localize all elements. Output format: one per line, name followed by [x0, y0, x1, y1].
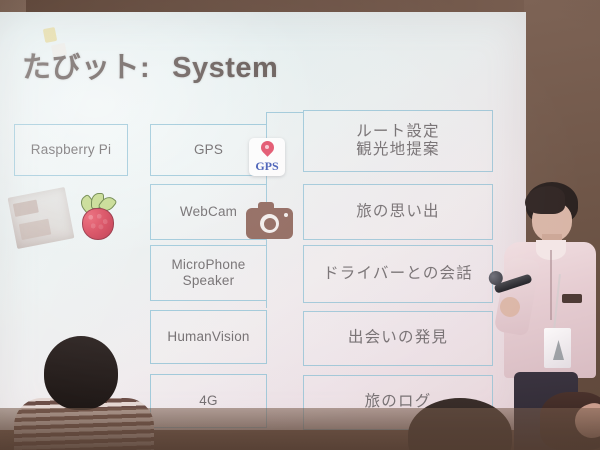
presenter-pocket — [562, 294, 582, 303]
box-encounter-discovery[interactable]: 出会いの発見 — [303, 311, 493, 366]
box-label: 4G — [199, 393, 217, 409]
raspberry-pi-logo — [78, 194, 118, 242]
page-title-en: System — [172, 52, 278, 84]
page-title-jp: たびット: — [22, 52, 150, 84]
box-humanvision[interactable]: HumanVision — [150, 310, 267, 364]
box-label-line1: ルート設定 — [356, 123, 440, 140]
connector-horizontal — [266, 112, 304, 113]
map-pin-shape — [261, 141, 274, 159]
box-label: ルート設定 観光地提案 — [356, 123, 440, 160]
box-label-line2: 観光地提案 — [356, 141, 440, 158]
box-label: HumanVision — [167, 329, 249, 345]
box-route-setting[interactable]: ルート設定 観光地提案 — [303, 110, 493, 172]
box-label-line1: MicroPhone — [171, 257, 245, 272]
gps-icon-label: GPS — [255, 160, 278, 172]
box-travel-memories[interactable]: 旅の思い出 — [303, 184, 493, 240]
audience-head — [44, 336, 118, 410]
box-microphone-speaker[interactable]: MicroPhone Speaker — [150, 245, 267, 301]
box-label: 出会いの発見 — [348, 329, 448, 347]
gps-pin-icon: GPS — [249, 138, 285, 176]
presenter-hair-front — [525, 186, 565, 214]
camera-icon — [246, 201, 293, 239]
floor — [0, 408, 600, 450]
box-driver-conversation[interactable]: ドライバーとの会話 — [303, 245, 493, 303]
box-label-line2: Speaker — [183, 273, 235, 288]
raspberry-berry — [82, 208, 114, 240]
camera-lens-inner — [264, 218, 276, 230]
box-raspberry-pi[interactable]: Raspberry Pi — [14, 124, 128, 176]
presenter-hand — [498, 295, 521, 318]
box-label: ドライバーとの会話 — [323, 265, 473, 283]
box-label: GPS — [194, 142, 223, 158]
box-label: WebCam — [180, 204, 237, 220]
box-label: 旅の思い出 — [356, 203, 440, 221]
raspberry-pi-board-photo — [8, 187, 75, 249]
camera-flash — [284, 213, 288, 217]
presenter-name-badge — [544, 328, 571, 368]
raspberry-pi-chip — [43, 27, 57, 43]
presenter-shirt-placket — [550, 250, 552, 320]
box-label: Raspberry Pi — [31, 142, 111, 158]
photo-scene: たびット:System Raspberry Pi GPS WebCam Micr — [0, 0, 600, 450]
box-label: MicroPhone Speaker — [171, 257, 245, 289]
